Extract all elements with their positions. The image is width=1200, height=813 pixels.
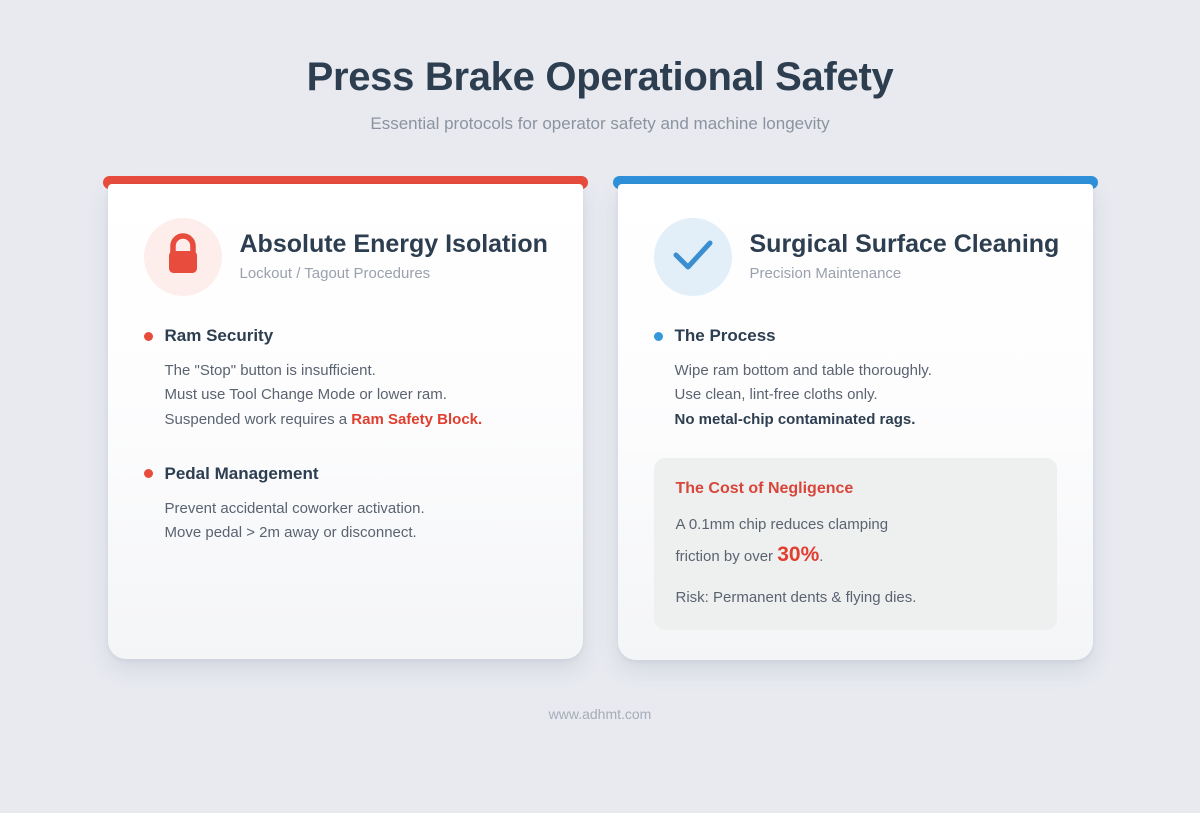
page-header: Press Brake Operational Safety Essential… <box>0 0 1200 134</box>
card-title: Surgical Surface Cleaning <box>750 230 1060 259</box>
callout-percentage: 30% <box>777 543 819 566</box>
card-absolute-energy-isolation: Absolute Energy Isolation Lockout / Tago… <box>108 176 583 660</box>
section-header: The Process <box>654 326 1057 346</box>
callout-cost-of-negligence: The Cost of Negligence A 0.1mm chip redu… <box>654 458 1057 630</box>
bullet-dot-icon <box>654 332 663 341</box>
check-icon-container <box>654 218 732 296</box>
section-line: Suspended work requires a Ram Safety Blo… <box>165 408 547 432</box>
card-header-text: Surgical Surface Cleaning Precision Main… <box>750 230 1060 284</box>
section-pedal-management: Pedal Management Prevent accidental cowo… <box>144 464 547 546</box>
card-subtitle: Precision Maintenance <box>750 265 1060 282</box>
section-title: The Process <box>675 326 776 346</box>
line-highlight: Ram Safety Block. <box>351 411 482 428</box>
bullet-dot-icon <box>144 469 153 478</box>
section-line: Must use Tool Change Mode or lower ram. <box>165 383 547 407</box>
check-icon <box>670 235 716 280</box>
card-body: Surgical Surface Cleaning Precision Main… <box>618 184 1093 660</box>
section-line: No metal-chip contaminated rags. <box>675 408 1057 432</box>
section-line: Use clean, lint-free cloths only. <box>675 383 1057 407</box>
section-title: Ram Security <box>165 326 274 346</box>
callout-risk: Risk: Permanent dents & flying dies. <box>676 587 1035 610</box>
card-header: Absolute Energy Isolation Lockout / Tago… <box>144 218 547 296</box>
cards-row: Absolute Energy Isolation Lockout / Tago… <box>0 176 1200 660</box>
section-lines: Wipe ram bottom and table thoroughly. Us… <box>675 359 1057 432</box>
page-subtitle: Essential protocols for operator safety … <box>0 114 1200 134</box>
section-line: Prevent accidental coworker activation. <box>165 497 547 521</box>
line-prefix: Suspended work requires a <box>165 411 352 428</box>
footer-website: www.adhmt.com <box>0 706 1200 722</box>
infographic-page: Press Brake Operational Safety Essential… <box>0 0 1200 813</box>
section-line: Move pedal > 2m away or disconnect. <box>165 521 547 545</box>
callout-body: A 0.1mm chip reduces clamping friction b… <box>676 512 921 573</box>
section-the-process: The Process Wipe ram bottom and table th… <box>654 326 1057 432</box>
section-header: Pedal Management <box>144 464 547 484</box>
section-line: The "Stop" button is insufficient. <box>165 359 547 383</box>
card-header-text: Absolute Energy Isolation Lockout / Tago… <box>240 230 548 284</box>
card-header: Surgical Surface Cleaning Precision Main… <box>654 218 1057 296</box>
lock-icon-container <box>144 218 222 296</box>
section-title: Pedal Management <box>165 464 319 484</box>
lock-icon <box>162 232 204 283</box>
section-header: Ram Security <box>144 326 547 346</box>
section-lines: Prevent accidental coworker activation. … <box>165 497 547 546</box>
section-lines: The "Stop" button is insufficient. Must … <box>165 359 547 432</box>
callout-title: The Cost of Negligence <box>676 480 1035 498</box>
bullet-dot-icon <box>144 332 153 341</box>
page-title: Press Brake Operational Safety <box>0 54 1200 100</box>
card-subtitle: Lockout / Tagout Procedures <box>240 265 548 282</box>
card-title: Absolute Energy Isolation <box>240 230 548 259</box>
card-body: Absolute Energy Isolation Lockout / Tago… <box>108 184 583 659</box>
callout-body-suffix: . <box>819 548 823 565</box>
section-ram-security: Ram Security The "Stop" button is insuff… <box>144 326 547 432</box>
card-surgical-surface-cleaning: Surgical Surface Cleaning Precision Main… <box>618 176 1093 660</box>
section-line: Wipe ram bottom and table thoroughly. <box>675 359 1057 383</box>
